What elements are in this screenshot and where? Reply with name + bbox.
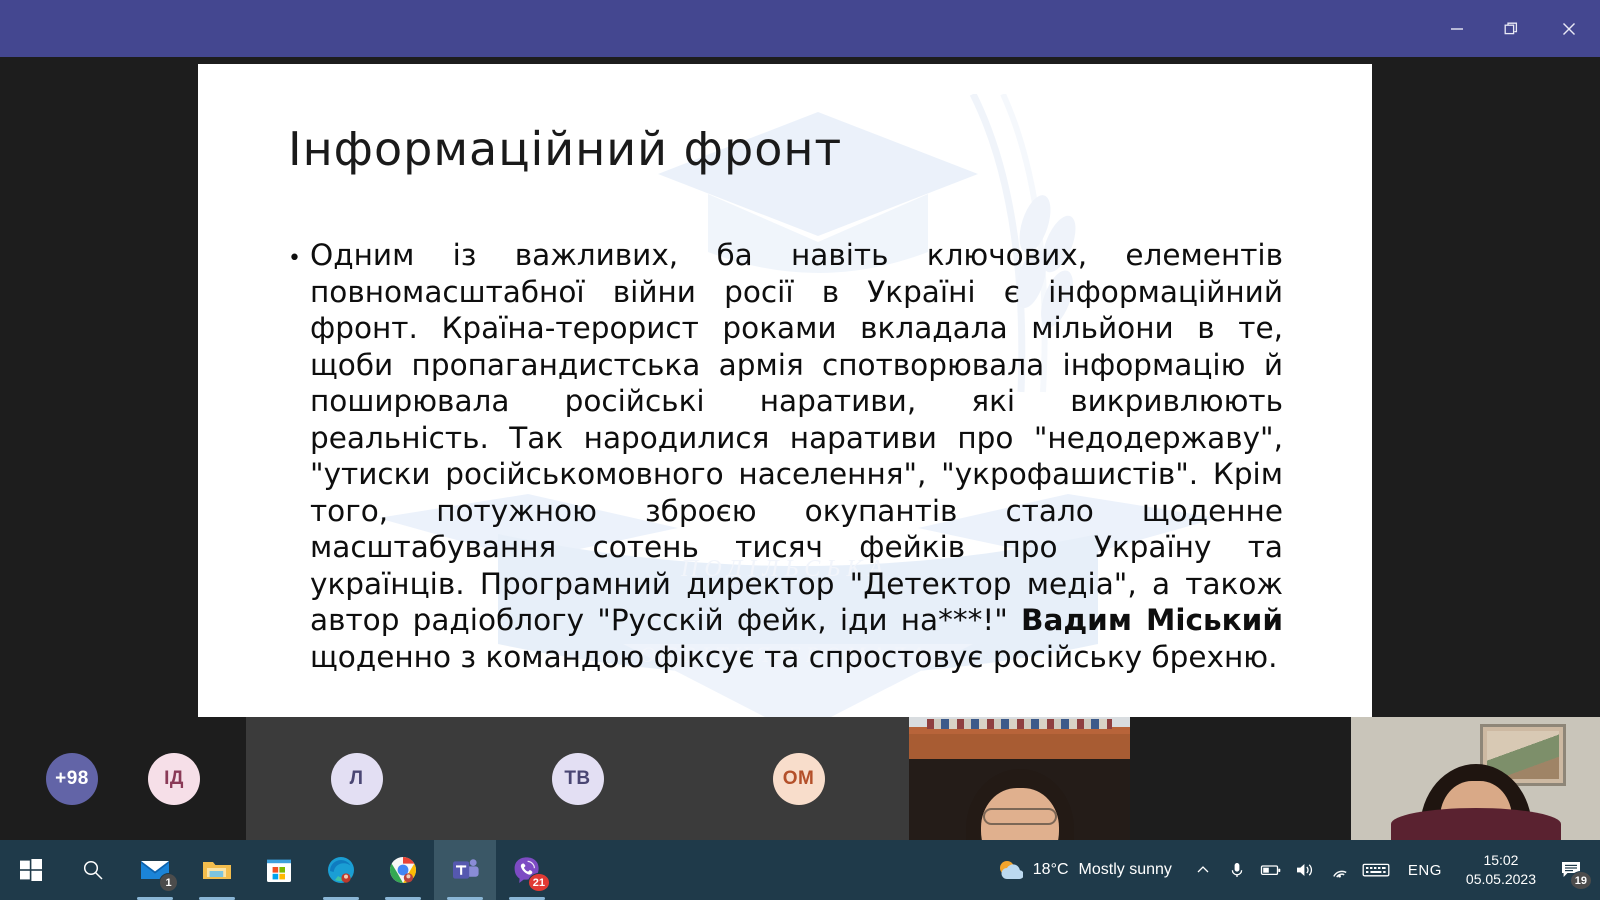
clock-time: 15:02 <box>1466 851 1536 870</box>
taskbar-badge: 21 <box>528 873 550 892</box>
keyboard-icon <box>1362 861 1390 879</box>
microphone-tray-icon[interactable] <box>1220 840 1254 900</box>
sun-cloud-icon <box>997 857 1023 883</box>
shared-slide[interactable]: ПОДІЛЬСЬКА ОСВІТНЯ ГРОМАДА Інформаційний… <box>198 64 1372 717</box>
bullet-point-marker: • <box>288 241 301 277</box>
show-hidden-icons-button[interactable] <box>1186 840 1220 900</box>
participant-filmstrip[interactable]: +98ІДЛТВОМ <box>0 717 1600 840</box>
meeting-stage: ПОДІЛЬСЬКА ОСВІТНЯ ГРОМАДА Інформаційний… <box>0 57 1600 717</box>
mail-app[interactable]: 1 <box>124 840 186 900</box>
google-chrome-app[interactable] <box>372 840 434 900</box>
taskbar-app-icons[interactable]: 121 <box>0 840 558 900</box>
avatar[interactable]: ТВ <box>552 753 604 805</box>
video-tile-2[interactable] <box>1351 717 1600 840</box>
window-title-bar <box>0 0 1600 57</box>
microsoft-edge-app[interactable] <box>310 840 372 900</box>
battery-icon <box>1260 861 1282 879</box>
windows-taskbar: 121 18°C Mostly sunny <box>0 840 1600 900</box>
file-explorer-app[interactable] <box>186 840 248 900</box>
webcam-feed <box>1351 717 1600 840</box>
chrome-icon <box>389 856 417 884</box>
minimize-button[interactable] <box>1430 0 1484 57</box>
store-icon <box>266 857 292 883</box>
viber-app[interactable]: 21 <box>496 840 558 900</box>
start-button[interactable] <box>0 840 62 900</box>
video-tile-1[interactable] <box>909 717 1130 840</box>
keyboard-layout-tray-icon[interactable] <box>1356 840 1396 900</box>
body-run: Одним із важливих, ба навіть ключових, е… <box>310 238 1283 637</box>
search-button[interactable] <box>62 840 124 900</box>
participant-tile[interactable]: ОМ <box>688 717 909 840</box>
restore-button[interactable] <box>1484 0 1538 57</box>
participant-tile[interactable]: ТВ <box>467 717 688 840</box>
notification-badge: 19 <box>1570 871 1592 890</box>
avatar[interactable]: Л <box>331 753 383 805</box>
wifi-icon <box>1329 861 1349 879</box>
avatar-group: ОМ <box>773 753 825 805</box>
volume-tray-icon[interactable] <box>1288 840 1322 900</box>
microsoft-teams-app[interactable] <box>434 840 496 900</box>
avatar[interactable]: +98 <box>46 753 98 805</box>
slide-body-text: Одним із важливих, ба навіть ключових, е… <box>288 237 1283 675</box>
close-button[interactable] <box>1538 0 1600 57</box>
body-emphasis: Вадим Міський <box>1021 603 1283 637</box>
chevron-up-icon <box>1196 863 1210 877</box>
weather-widget[interactable]: 18°C Mostly sunny <box>987 857 1186 883</box>
taskbar-badge: 1 <box>159 873 178 892</box>
input-language-indicator[interactable]: ENG <box>1396 862 1454 879</box>
clock-widget[interactable]: 15:02 05.05.2023 <box>1454 851 1548 889</box>
participant-tile[interactable]: +98ІД <box>0 717 246 840</box>
search-icon <box>82 859 104 881</box>
avatar-group: +98ІД <box>46 753 200 805</box>
avatar[interactable]: ІД <box>148 753 200 805</box>
video-tile-blank[interactable] <box>1130 717 1351 840</box>
microsoft-store-app[interactable] <box>248 840 310 900</box>
slide-body: • Одним із важливих, ба навіть ключових,… <box>288 237 1283 675</box>
system-tray: 18°C Mostly sunny <box>987 840 1600 900</box>
edge-icon <box>327 856 355 884</box>
avatar[interactable]: ОМ <box>773 753 825 805</box>
weather-condition: Mostly sunny <box>1079 861 1172 879</box>
battery-tray-icon[interactable] <box>1254 840 1288 900</box>
teams-icon <box>451 857 479 883</box>
participant-tile[interactable]: Л <box>246 717 467 840</box>
notification-center-button[interactable]: 19 <box>1548 840 1594 900</box>
slide-title: Інформаційний фронт <box>288 122 842 176</box>
weather-temperature: 18°C <box>1033 861 1069 879</box>
speaker-icon <box>1295 861 1314 879</box>
clock-date: 05.05.2023 <box>1466 870 1536 889</box>
network-tray-icon[interactable] <box>1322 840 1356 900</box>
webcam-feed <box>909 717 1130 840</box>
folder-icon <box>202 858 232 882</box>
windows-logo <box>20 859 42 881</box>
body-run: щоденно з командою фіксує та спростовує … <box>310 640 1278 674</box>
avatar-group: ТВ <box>552 753 604 805</box>
avatar-group: Л <box>331 753 383 805</box>
microphone-icon <box>1228 861 1246 879</box>
teams-meeting-window: ПОДІЛЬСЬКА ОСВІТНЯ ГРОМАДА Інформаційний… <box>0 0 1600 900</box>
